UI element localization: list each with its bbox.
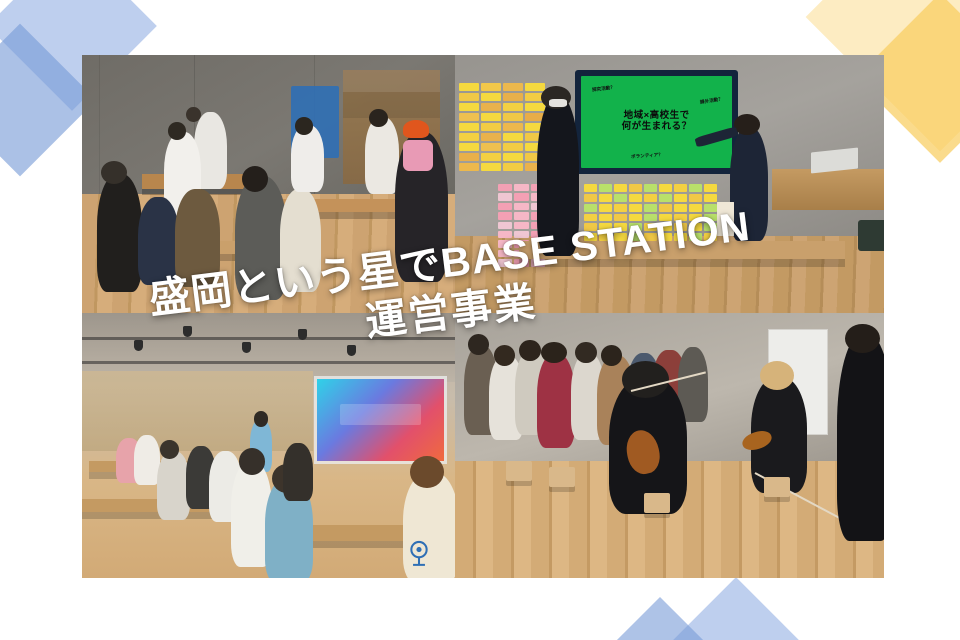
presentation-screen: 探究活動？ 課外活動？ 地域×高校生で 何が生まれる？ ボランティア？: [581, 76, 732, 167]
tshirt-logo-icon: [402, 536, 436, 570]
person: [369, 109, 388, 127]
person: [295, 117, 314, 135]
musician-foreground: [837, 334, 884, 541]
poster-stand: [717, 202, 734, 236]
ceiling-lamp: [298, 329, 307, 340]
audience-member: [494, 345, 515, 366]
person: [175, 189, 220, 287]
display-monitor: 探究活動？ 課外活動？ 地域×高校生で 何が生まれる？ ボランティア？: [575, 70, 738, 173]
ceiling-lamp: [134, 340, 143, 351]
person: [291, 125, 325, 192]
person-attendee: [283, 443, 313, 501]
stool: [506, 461, 532, 481]
speaker-box: [858, 220, 884, 251]
musician-head: [845, 324, 879, 353]
audience-member: [537, 353, 576, 448]
stool: [549, 467, 575, 487]
person-head: [734, 114, 760, 135]
ceiling-lamp: [183, 326, 192, 337]
violinist-head: [760, 361, 794, 390]
blue-diamond-bottom-right-dark: [595, 597, 725, 640]
screen-note-volunteer: ボランティア？: [631, 152, 663, 160]
stool: [764, 477, 790, 497]
audience-member: [541, 342, 567, 363]
audience-member: [601, 345, 622, 366]
person-attendee: [239, 448, 265, 475]
slide-canvas: 探究活動？ 課外活動？ 地域×高校生で 何が生まれる？ ボランティア？: [0, 0, 960, 640]
person-hat: [403, 120, 429, 138]
photo-collage: 探究活動？ 課外活動？ 地域×高校生で 何が生まれる？ ボランティア？: [82, 55, 884, 578]
blue-diamond-bottom-right-light: [651, 577, 821, 640]
projection-screen: [317, 379, 444, 461]
person: [97, 174, 142, 293]
person: [365, 117, 399, 194]
ceiling-lamp: [347, 345, 356, 356]
wood-wall: [82, 371, 313, 451]
podium: [772, 169, 884, 210]
person-attendee: [157, 451, 191, 520]
sticky-note-wall-left: [459, 83, 545, 171]
photo-presentation: 探究活動？ 課外活動？ 地域×高校生で 何が生まれる？ ボランティア？: [455, 55, 884, 313]
ceiling-beam: [82, 361, 455, 364]
screen-note-inquiry: 探究活動？: [591, 85, 615, 94]
audience-member: [575, 342, 596, 363]
photo-concert: [455, 313, 884, 578]
person-presenter-left: [537, 96, 580, 256]
person-bag: [403, 140, 433, 171]
person: [101, 161, 127, 184]
person-mask: [549, 99, 566, 107]
cellist-head: [622, 361, 669, 398]
person-attendee: [160, 440, 179, 459]
person-presenter-right: [730, 127, 769, 241]
person-attendee: [410, 456, 444, 488]
photo-workshop: [82, 55, 455, 313]
person: [138, 197, 179, 285]
photo-seminar: [82, 313, 455, 578]
screen-note-extracurricular: 課外活動？: [700, 97, 724, 107]
screen-headline-2: 何が生まれる？: [622, 122, 692, 133]
audience-member: [519, 340, 540, 361]
person: [280, 189, 321, 292]
stool: [644, 493, 670, 513]
